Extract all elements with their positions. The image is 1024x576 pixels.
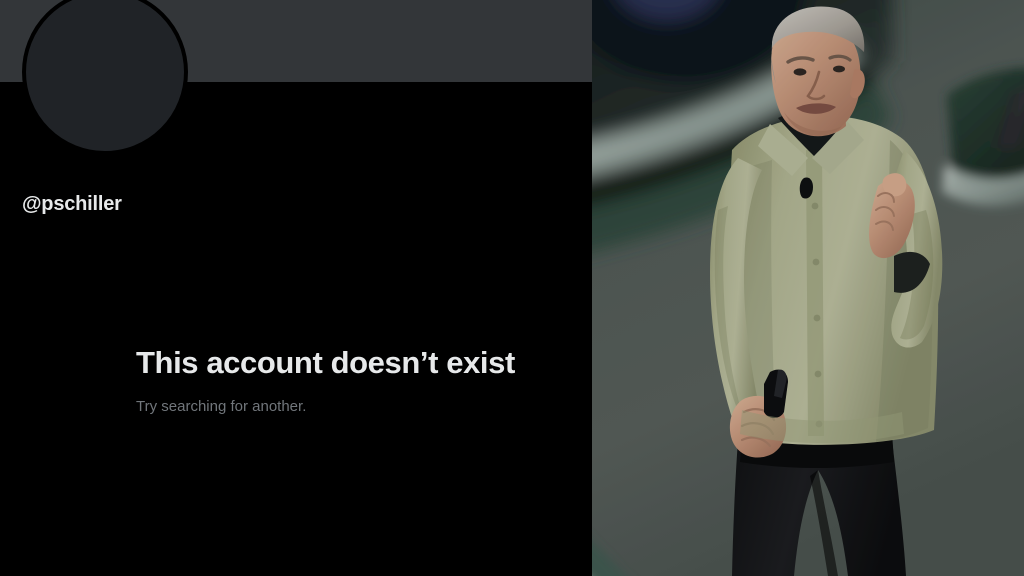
profile-avatar[interactable]	[22, 0, 188, 155]
profile-error-panel: @pschiller This account doesn’t exist Tr…	[0, 0, 592, 576]
empty-state-subtitle: Try searching for another.	[136, 397, 556, 417]
profile-handle: @pschiller	[22, 192, 122, 216]
empty-state-title: This account doesn’t exist	[136, 345, 556, 381]
screenshot-root: @pschiller This account doesn’t exist Tr…	[0, 0, 1024, 576]
presenter-photo	[592, 0, 1024, 576]
empty-state-message: This account doesn’t exist Try searching…	[136, 345, 556, 417]
presenter-photo-illustration	[592, 0, 1024, 576]
